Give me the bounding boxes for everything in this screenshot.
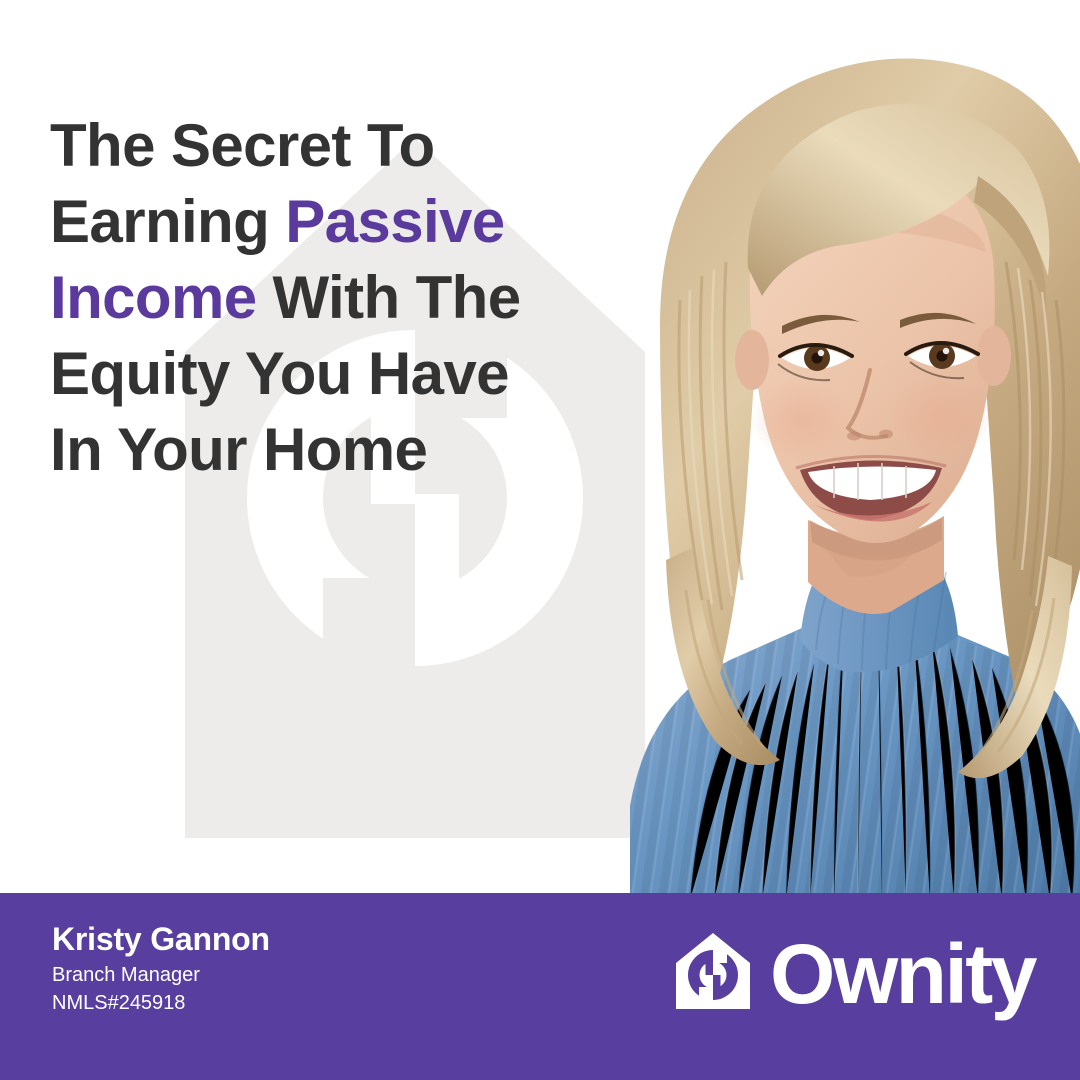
page-title: The Secret To Earning Passive Income Wit… [50, 108, 610, 488]
brand-logo-lockup: Ownity [670, 929, 1035, 1015]
footer-bar: Kristy Gannon Branch Manager NMLS#245918 [0, 893, 1080, 1080]
brand-wordmark: Ownity [770, 932, 1035, 1016]
agent-name: Kristy Gannon [52, 920, 270, 958]
headline-line-3-suffix: With The [256, 264, 520, 331]
ownity-house-swap-icon [670, 929, 756, 1015]
headline-line-2-prefix: Earning [50, 188, 285, 255]
social-graphic-canvas: The Secret To Earning Passive Income Wit… [0, 0, 1080, 1080]
agent-title: Branch Manager [52, 962, 270, 988]
headline-line-4: Equity You Have [50, 340, 509, 407]
headline-accent-passive: Passive [285, 188, 504, 255]
agent-nmls-number: NMLS#245918 [52, 990, 270, 1016]
headline-accent-income: Income [50, 264, 256, 331]
headline-line-5: In Your Home [50, 416, 427, 483]
agent-info-block: Kristy Gannon Branch Manager NMLS#245918 [52, 920, 270, 1016]
headline-line-1: The Secret To [50, 112, 435, 179]
